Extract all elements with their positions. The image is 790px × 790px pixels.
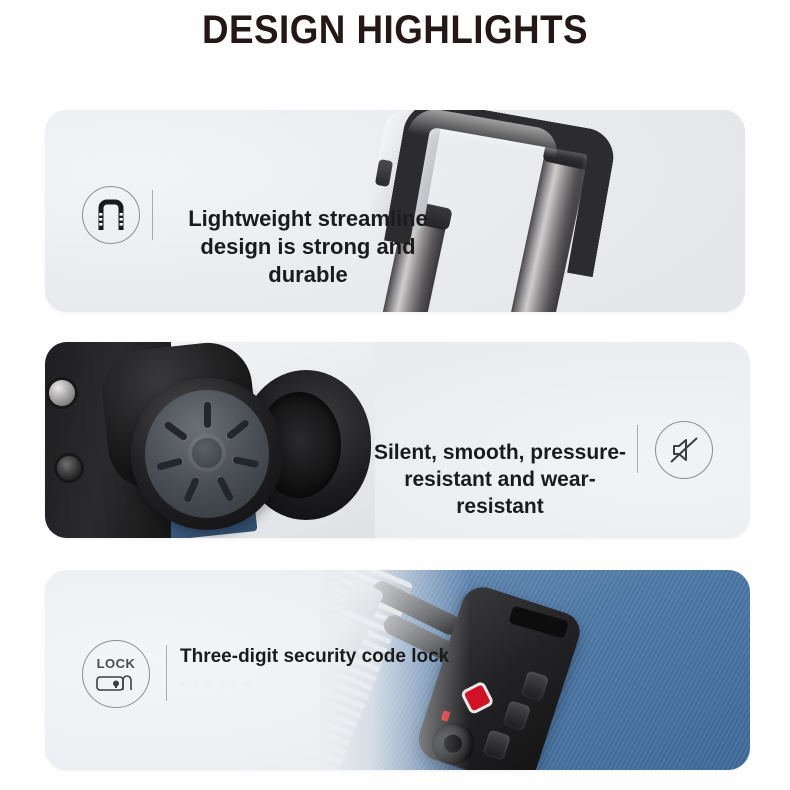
lock-dial [482, 729, 511, 761]
photo-edge-fade [320, 570, 470, 770]
lock-shackle-slot [508, 605, 569, 638]
trolley-handle-icon [82, 186, 140, 244]
panel-divider [166, 645, 167, 701]
hubcap-center [192, 438, 222, 468]
hubcap-slot [156, 457, 183, 470]
wheel-hubcap [145, 390, 269, 518]
lock-dial [520, 670, 549, 702]
bracket-screw [57, 456, 81, 480]
hubcap-slot [183, 476, 200, 503]
lock-dial [502, 700, 531, 732]
combination-lock-icon: LOCK [82, 640, 150, 708]
hubcap-slot [216, 476, 234, 502]
mute-speaker-icon [655, 421, 713, 479]
feature-text-silent: Silent, smooth, pressure-resistant and w… [370, 440, 630, 521]
page-title: DESIGN HIGHLIGHTS [32, 8, 759, 53]
feature-text-lightweight: Lightweight streamline design is strong … [178, 205, 438, 289]
spinner-wheel-photo [45, 342, 375, 538]
panel-divider [152, 190, 153, 240]
hubcap-slot [204, 402, 211, 428]
hubcap-slot [226, 419, 251, 441]
bracket-rivet [49, 380, 75, 406]
panel-divider [637, 425, 638, 473]
feature-text-code-lock: Three-digit security code lock [180, 645, 500, 669]
hubcap-slot [163, 421, 188, 442]
wheel-front-tire [131, 378, 283, 530]
tsa-combination-lock-photo [320, 570, 750, 770]
feature-subtext-blurred: · · · · · · [182, 678, 252, 690]
feature-card-code-lock [45, 570, 750, 770]
hubcap-slot [232, 456, 259, 468]
lock-icon-label: LOCK [97, 657, 136, 670]
design-highlights-page: DESIGN HIGHLIGHTS Lightweight streamline… [0, 0, 790, 790]
